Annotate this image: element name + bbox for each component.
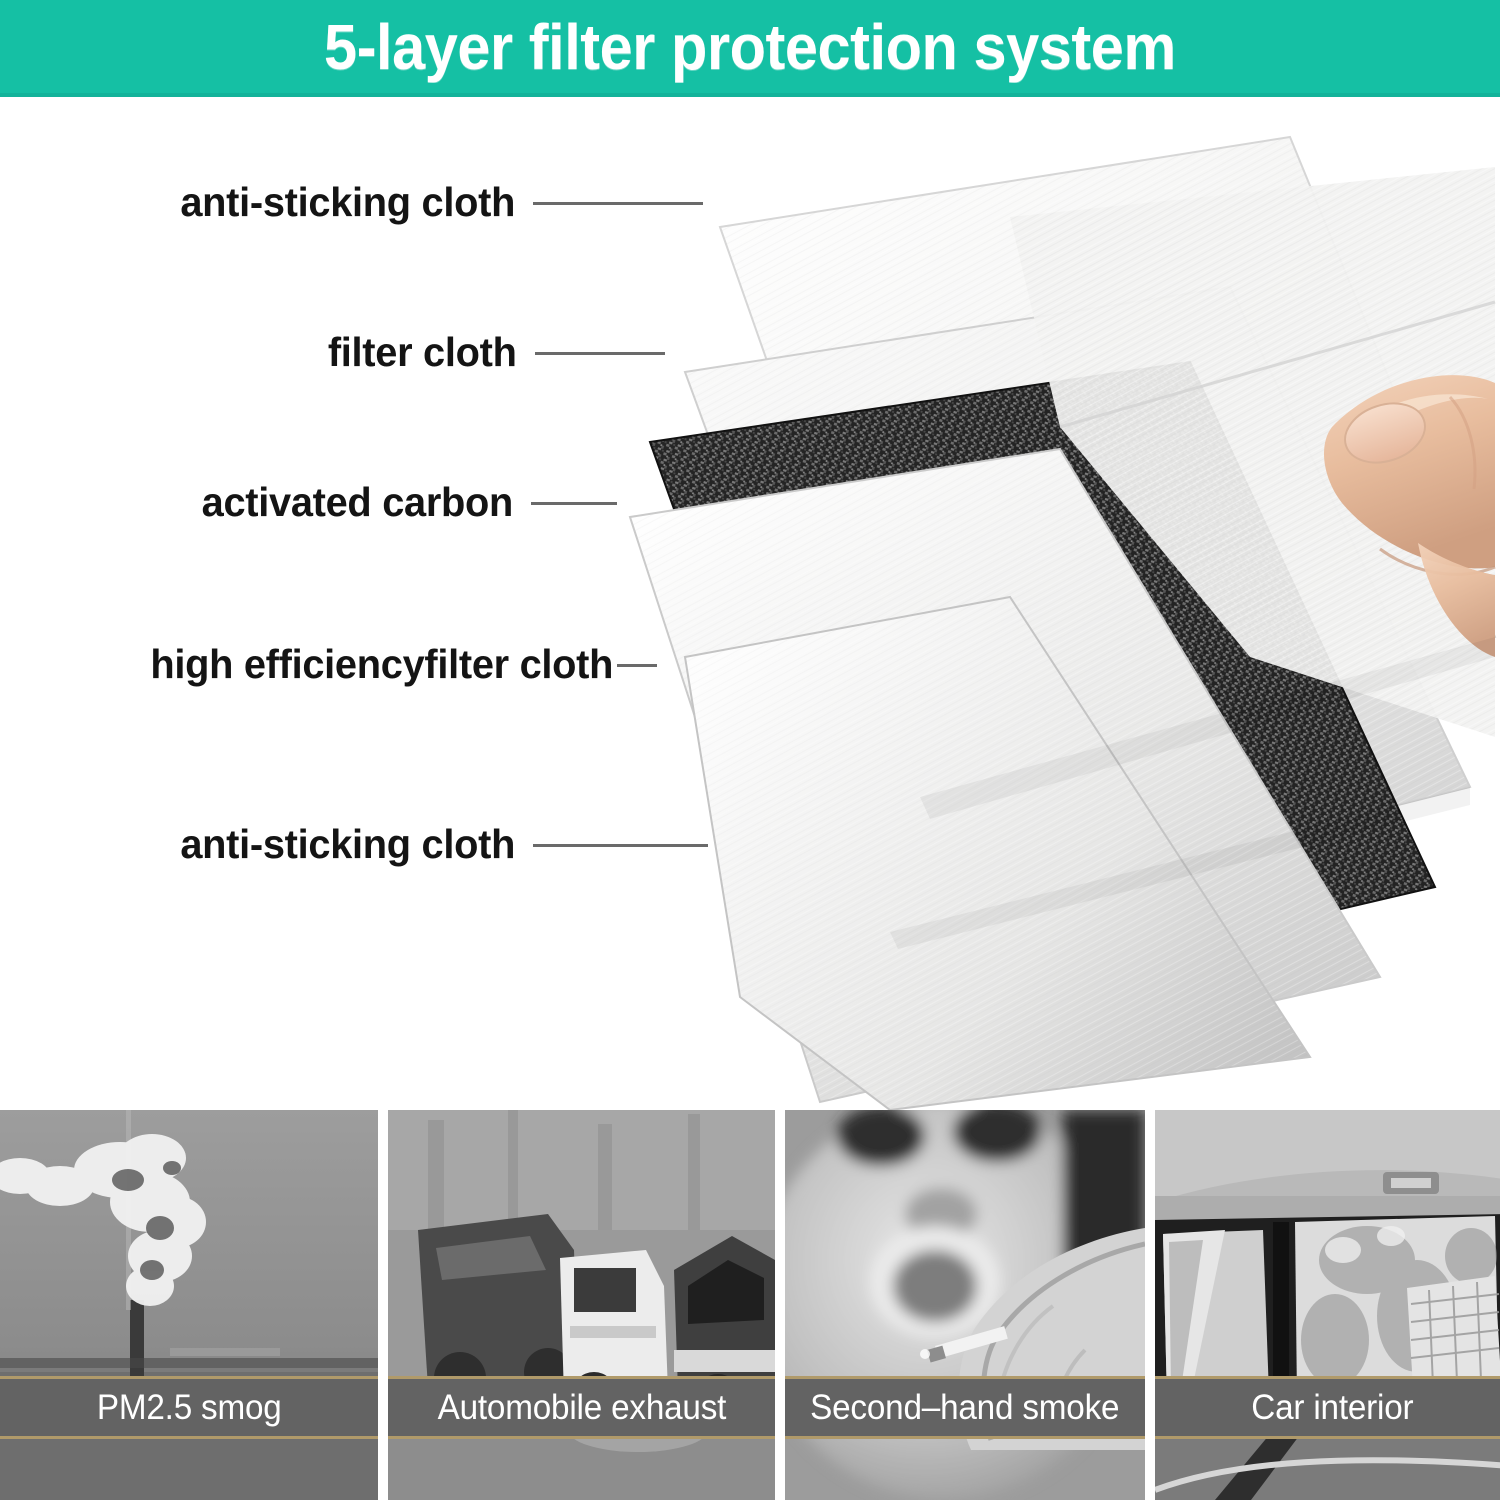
use-case-photo-strip: PM2.5 smog (0, 1110, 1500, 1500)
photo-panel-car-interior: Car interior (1155, 1110, 1500, 1500)
layer-diagram: anti-sticking cloth filter cloth activat… (0, 97, 1500, 1110)
callout-label: anti-sticking cloth (180, 182, 515, 223)
car-window-icon (1155, 1110, 1500, 1500)
panel-caption: Second–hand smoke (810, 1390, 1119, 1425)
callout-label: filter cloth (328, 332, 517, 373)
filter-layers-photo (590, 97, 1500, 1110)
leader-line-icon (533, 844, 708, 847)
leader-line-icon (531, 502, 617, 505)
panel-caption: Automobile exhaust (437, 1390, 726, 1425)
callout-label: anti-sticking cloth (180, 824, 515, 865)
photo-panel-automobile-exhaust: Automobile exhaust (388, 1110, 775, 1500)
panel-divider (378, 1110, 388, 1500)
smokestack-plume-icon (0, 1110, 378, 1500)
panel-caption-bar: PM2.5 smog (0, 1376, 378, 1439)
filter-layers-illustration (590, 97, 1500, 1110)
panel-caption: Car interior (1251, 1390, 1413, 1425)
panel-caption-bar: Automobile exhaust (388, 1376, 775, 1439)
leader-line-icon (535, 352, 665, 355)
leader-line-icon (533, 202, 703, 205)
callout-label: activated carbon (202, 482, 513, 523)
panel-divider (1145, 1110, 1155, 1500)
photo-panel-second-hand-smoke: Second–hand smoke (785, 1110, 1145, 1500)
photo-panel-pm25-smog: PM2.5 smog (0, 1110, 378, 1500)
panel-caption: PM2.5 smog (97, 1390, 282, 1425)
panel-caption-bar: Second–hand smoke (785, 1376, 1145, 1439)
leader-line-icon (617, 664, 657, 667)
panel-divider (775, 1110, 785, 1500)
header-banner: 5-layer filter protection system (0, 0, 1500, 97)
callout-label: high efficiencyfilter cloth (150, 644, 613, 685)
page-title: 5-layer filter protection system (324, 15, 1176, 79)
panel-caption-bar: Car interior (1155, 1376, 1500, 1439)
child-cigarette-icon (785, 1110, 1145, 1500)
traffic-jam-icon (388, 1110, 775, 1500)
product-infographic: 5-layer filter protection system (0, 0, 1500, 1500)
